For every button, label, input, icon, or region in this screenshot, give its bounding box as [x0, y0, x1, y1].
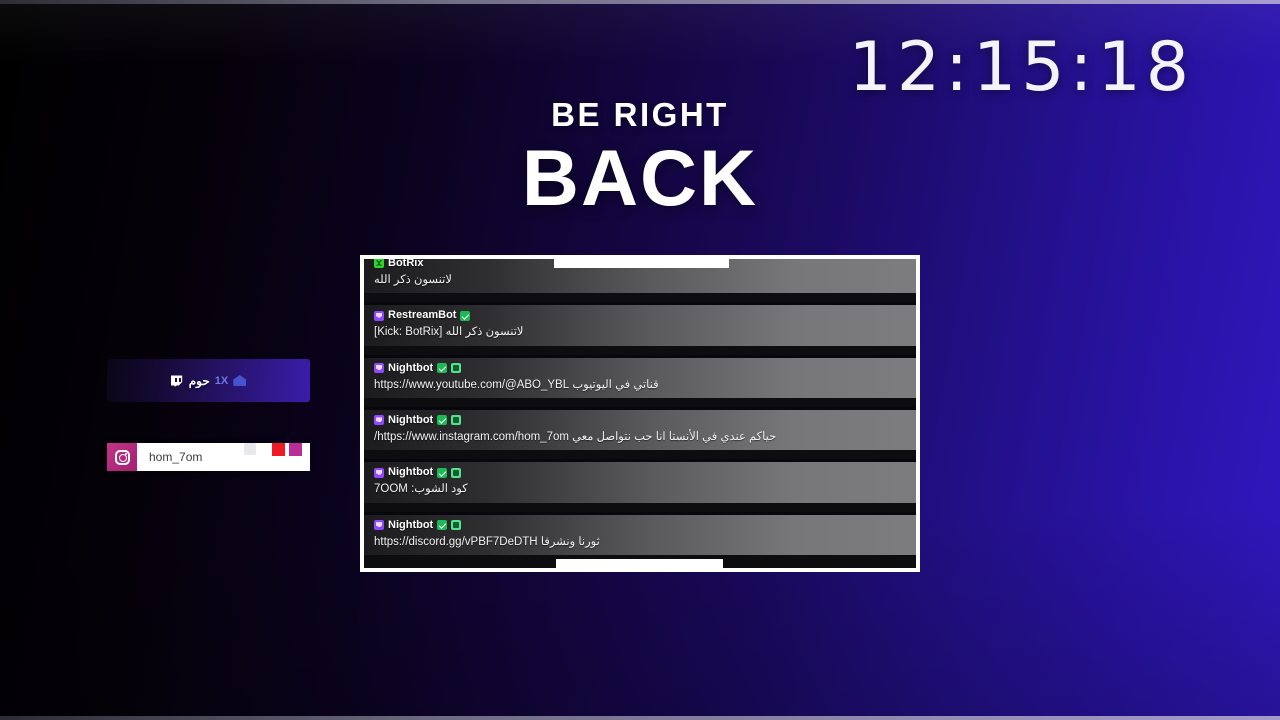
verified-icon	[437, 363, 447, 373]
instagram-icon	[115, 450, 130, 465]
twitch-channel-name: حوم	[189, 374, 210, 388]
twitch-icon	[374, 468, 384, 478]
twitch-icon	[374, 363, 384, 373]
twitch-icon	[374, 415, 384, 425]
instagram-logo-block	[107, 443, 137, 471]
moderator-icon	[451, 415, 461, 425]
screen-edge-bottom	[0, 716, 1280, 720]
chat-message: Nightbotحياكم عندي في الأنستا انا حب نتو…	[364, 407, 916, 450]
verified-icon	[437, 415, 447, 425]
instagram-handle-widget[interactable]: hom_7om	[107, 443, 310, 471]
chat-overlay-strip-bottom	[556, 559, 723, 568]
chat-message-text: كود الشوب: 7OOM	[374, 482, 908, 496]
chat-message-header: RestreamBot	[374, 310, 908, 321]
twitch-viewer-count: 1X	[215, 375, 228, 387]
chat-message-text: [Kick: BotRix] لاتنسون ذكر الله	[374, 325, 908, 339]
chat-message-header: Nightbot	[374, 520, 908, 531]
kick-bot-icon	[374, 259, 384, 268]
placeholder-square-icon	[244, 443, 256, 455]
chat-author-name[interactable]: Nightbot	[388, 520, 433, 531]
twitch-icon	[374, 311, 384, 321]
brb-title-block: BE RIGHT BACK	[0, 98, 1280, 216]
chat-message-text: قناتي في اليوتيوب https://www.youtube.co…	[374, 378, 908, 392]
brb-overlay-stage: 12:15:18 BE RIGHT BACK يوقف الوقت كي الج…	[0, 0, 1280, 720]
chat-message: Nightbotثورنا ونشرفا https://discord.gg/…	[364, 512, 916, 555]
chat-message-text: ثورنا ونشرفا https://discord.gg/vPBF7DeD…	[374, 535, 908, 549]
chat-author-name[interactable]: Nightbot	[388, 467, 433, 478]
verified-icon	[437, 468, 447, 478]
chat-message: Nightbotكود الشوب: 7OOM	[364, 459, 916, 502]
chat-message-header: Nightbot	[374, 415, 908, 426]
twitch-glyph-icon	[171, 374, 184, 387]
chat-message-text: لاتنسون ذكر الله	[374, 273, 908, 287]
chat-panel-frame: يوقف الوقت كي الجميل نفس ف ايكتبBotRixلا…	[360, 255, 920, 572]
moderator-icon	[451, 363, 461, 373]
twitch-icon	[374, 520, 384, 530]
chat-message: RestreamBot[Kick: BotRix] لاتنسون ذكر ال…	[364, 302, 916, 345]
brb-title-line2: BACK	[0, 139, 1280, 216]
chat-message-list[interactable]: يوقف الوقت كي الجميل نفس ف ايكتبBotRixلا…	[364, 259, 916, 564]
verified-icon	[437, 520, 447, 530]
chat-author-name[interactable]: Nightbot	[388, 415, 433, 426]
moderator-icon	[451, 520, 461, 530]
color-swatch-red[interactable]	[272, 443, 285, 456]
house-icon	[233, 374, 246, 387]
color-swatch-pink[interactable]	[289, 443, 302, 456]
chat-author-name[interactable]: BotRix	[388, 259, 423, 269]
chat-message: Nightbotقناتي في اليوتيوب https://www.yo…	[364, 355, 916, 398]
chat-panel[interactable]: يوقف الوقت كي الجميل نفس ف ايكتبBotRixلا…	[364, 259, 916, 568]
instagram-handle-text: hom_7om	[137, 443, 244, 471]
verified-icon	[460, 311, 470, 321]
chat-author-name[interactable]: Nightbot	[388, 363, 433, 374]
moderator-icon	[451, 468, 461, 478]
chat-author-name[interactable]: RestreamBot	[388, 310, 456, 321]
chat-overlay-strip-top	[554, 259, 729, 268]
chat-message-header: Nightbot	[374, 467, 908, 478]
chat-message-header: Nightbot	[374, 363, 908, 374]
chat-message-text: حياكم عندي في الأنستا انا حب نتواصل معي …	[374, 430, 908, 444]
twitch-channel-widget[interactable]: حوم 1X	[107, 359, 310, 402]
brb-title-line1: BE RIGHT	[0, 98, 1280, 131]
stream-clock: 12:15:18	[849, 34, 1194, 102]
screen-edge-top	[0, 0, 1280, 4]
